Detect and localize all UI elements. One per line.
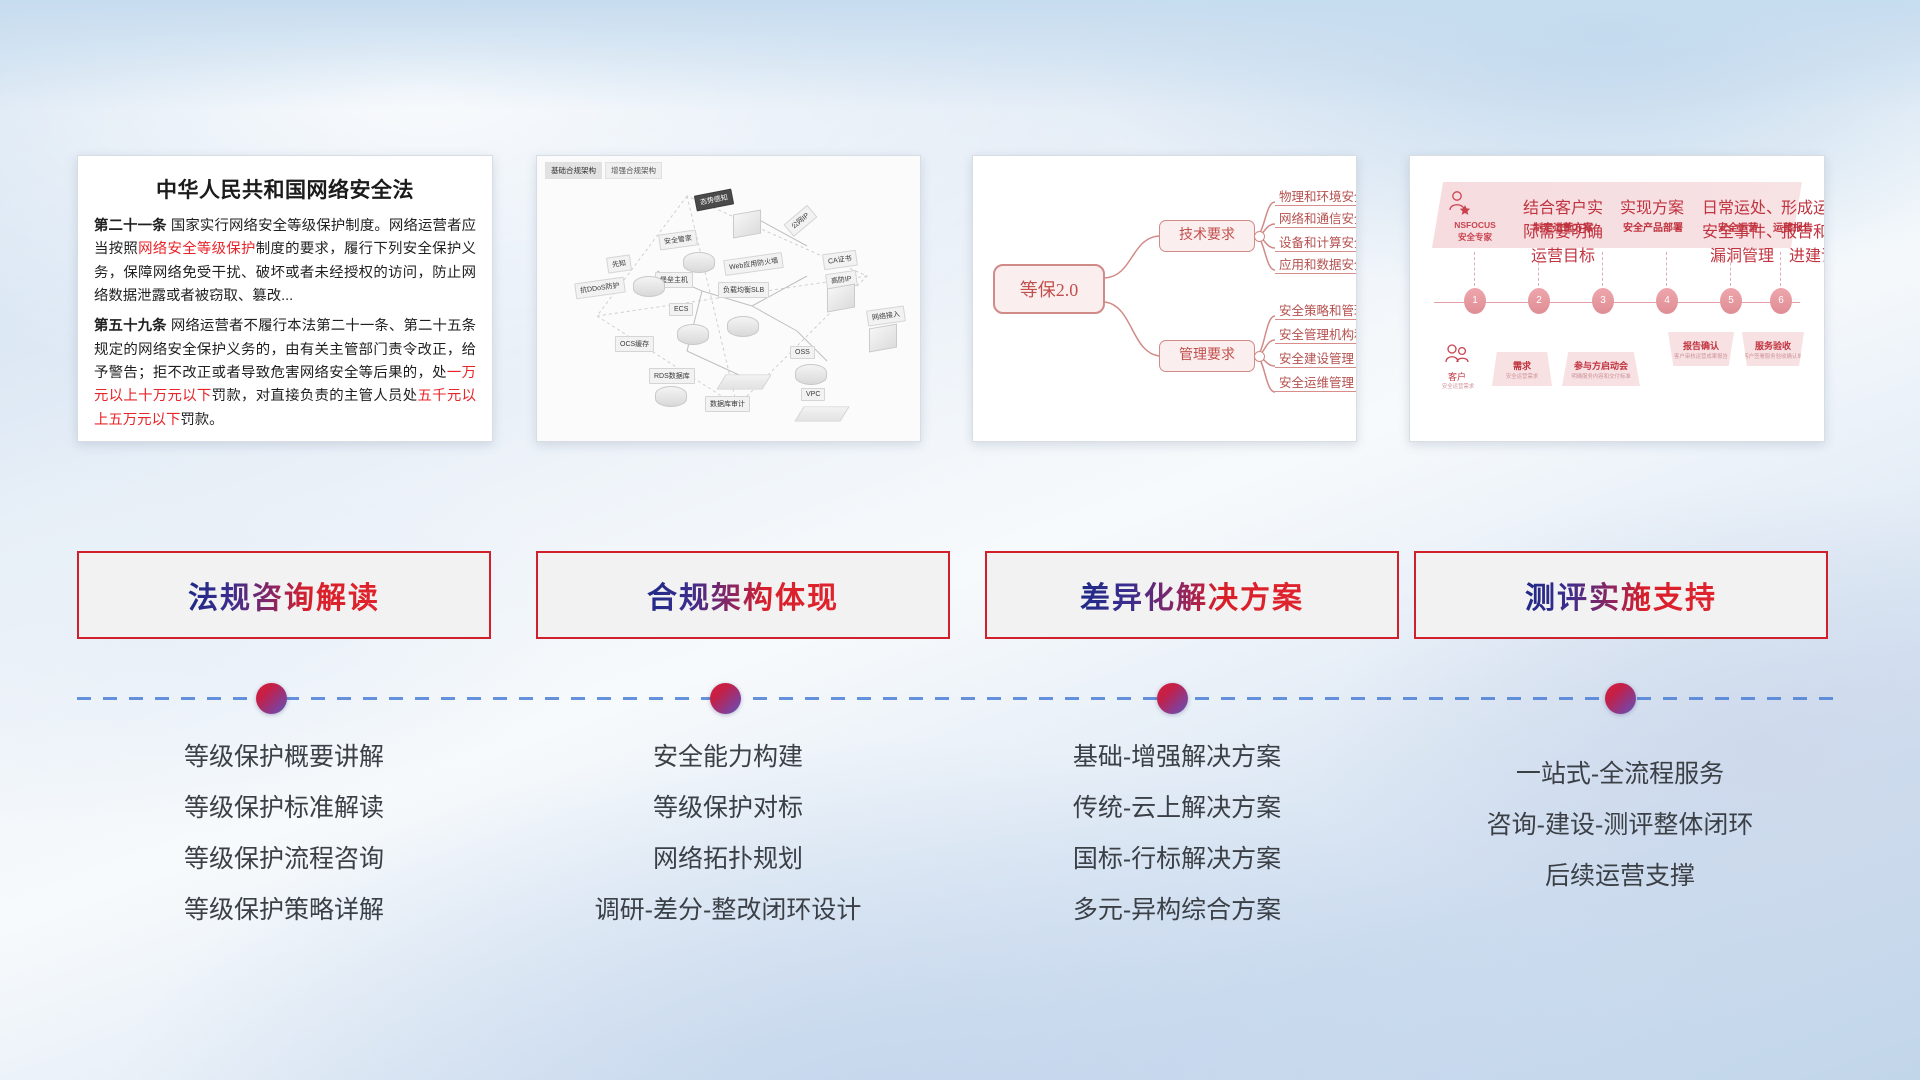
bottom-item-2: 参与方启动会 明确服务内容和交付标准: [1562, 352, 1640, 386]
law-article-59-text-c: 罚款。: [180, 412, 223, 428]
law-title: 中华人民共和国网络安全法: [94, 174, 476, 204]
list-item: 后续运营支撑: [1405, 864, 1835, 889]
timeline-connector-5: [1730, 252, 1731, 286]
arch-node-xianzhi: 先知: [606, 254, 632, 273]
bottom-item-4: 服务验收 客户签署服务验收确认单: [1742, 332, 1804, 366]
bottom-item-3: 报告确认 客户审核运营成果报告: [1668, 332, 1734, 366]
pillar-title-1[interactable]: 法规咨询解读: [77, 551, 491, 639]
arch-node-db-audit: 数据库审计: [705, 396, 750, 412]
mindmap-leaf-org-personnel: 安全管理机构和人员: [1275, 324, 1357, 344]
timeline-connector-4: [1666, 252, 1667, 286]
list-item: 咨询-建设-测评整体闭环: [1405, 813, 1835, 838]
card-mindmap-dengbao[interactable]: 等保2.0 技术要求 物理和环境安全 网络和通信安全 设备和计算安全 应用和数据…: [972, 155, 1357, 442]
list-item: 等级保护流程咨询: [69, 847, 499, 872]
law-article-59-text-b: 罚款，对直接负责的主管人员处: [212, 388, 418, 404]
bottom-item-1-sub: 安全运营需求: [1492, 372, 1552, 380]
timeline-node-4[interactable]: [1605, 683, 1636, 714]
list-item: 国标-行标解决方案: [962, 847, 1392, 872]
pillar-title-4-text: 测评实施支持: [1525, 573, 1717, 617]
list-item: 安全能力构建: [513, 745, 943, 770]
list-item: 调研-差分-整改闭环设计: [513, 898, 943, 923]
arch-node-oss: OSS: [790, 346, 815, 359]
customer-icon: [1444, 342, 1470, 370]
bottom-item-2-sub: 明确服务内容和交付标准: [1562, 372, 1640, 380]
arch-node-slb: 负载均衡SLB: [718, 282, 769, 298]
list-item: 传统-云上解决方案: [962, 796, 1392, 821]
timeline-connector-3: [1602, 252, 1603, 286]
mindmap-leaf-app-data: 应用和数据安全: [1275, 254, 1357, 274]
law-article-59: 第五十九条 网络运营者不履行本法第二十一条、第二十五条规定的网络安全保护义务的，…: [94, 315, 476, 432]
pillar-items-2: 安全能力构建 等级保护对标 网络拓扑规划 调研-差分-整改闭环设计: [513, 745, 943, 949]
timeline-connector-1: [1474, 252, 1475, 286]
mindmap-branch-management: 管理要求: [1159, 340, 1255, 372]
arch-shape-box-2: [827, 284, 855, 313]
arch-node-vpc: VPC: [801, 388, 825, 401]
list-item: 基础-增强解决方案: [962, 745, 1392, 770]
timeline-step-4: 4: [1656, 288, 1678, 314]
brand-name: NSFOCUS: [1444, 220, 1506, 231]
timeline-step-2: 2: [1528, 288, 1550, 314]
timeline-step-5: 5: [1720, 288, 1742, 314]
list-item: 网络拓扑规划: [513, 847, 943, 872]
mindmap-leaf-network-comm: 网络和通信安全: [1275, 208, 1357, 228]
list-item: 等级保护策略详解: [69, 898, 499, 923]
arch-shape-cylinder-6: [795, 364, 827, 385]
timeline-node-3[interactable]: [1157, 683, 1188, 714]
mindmap-branch-technical: 技术要求: [1159, 220, 1255, 252]
law-article-21-label: 第二十一条: [94, 218, 167, 234]
timeline-step-3: 3: [1592, 288, 1614, 314]
law-article-59-label: 第五十九条: [94, 318, 167, 334]
mindmap-leaf-physical-env: 物理和环境安全: [1275, 186, 1357, 206]
arch-shape-plate-1: [716, 375, 771, 390]
list-item: 等级保护概要讲解: [69, 745, 499, 770]
bottom-item-3-title: 报告确认: [1668, 339, 1734, 352]
pillar-items-3: 基础-增强解决方案 传统-云上解决方案 国标-行标解决方案 多元-异构综合方案: [962, 745, 1392, 949]
list-item: 一站式-全流程服务: [1405, 762, 1835, 787]
service-timeline-diagram: NSFOCUS 安全专家 结合客户实际需要明确运营目标 制定运营方案 实现方案 …: [1410, 156, 1824, 441]
bottom-item-4-sub: 客户签署服务验收确认单: [1742, 352, 1804, 360]
arch-shape-box-1: [733, 210, 761, 239]
bottom-item-4-title: 服务验收: [1742, 339, 1804, 352]
arch-shape-plate-2: [794, 407, 849, 422]
arch-shape-cylinder-4: [727, 316, 759, 337]
arch-shape-cylinder-5: [655, 386, 687, 407]
arch-shape-box-3: [869, 324, 897, 353]
timeline-axis: [1434, 302, 1800, 303]
card-service-timeline[interactable]: NSFOCUS 安全专家 结合客户实际需要明确运营目标 制定运营方案 实现方案 …: [1409, 155, 1825, 442]
mindmap-leaf-construction-mgmt: 安全建设管理: [1275, 348, 1357, 368]
mindmap-root-node: 等保2.0: [993, 264, 1105, 314]
phase-title-1: 制定运营方案: [1533, 223, 1593, 234]
timeline-connector-6: [1780, 252, 1781, 286]
card-cybersecurity-law[interactable]: 中华人民共和国网络安全法 第二十一条 国家实行网络安全等级保护制度。网络运营者应…: [77, 155, 493, 442]
pillar-title-4[interactable]: 测评实施支持: [1414, 551, 1828, 639]
bottom-item-1-title: 需求: [1492, 359, 1552, 372]
timeline-node-1[interactable]: [256, 683, 287, 714]
phase-title-2: 安全产品部署: [1623, 223, 1683, 234]
mindmap-leaf-device-compute: 设备和计算安全: [1275, 232, 1357, 252]
security-expert-icon: [1446, 190, 1472, 220]
phase-sub-2: 实现方案: [1616, 194, 1688, 218]
bottom-item-3-sub: 客户审核运营成果报告: [1668, 352, 1734, 360]
arch-node-rds: RDS数据库: [649, 368, 695, 384]
law-document: 中华人民共和国网络安全法 第二十一条 国家实行网络安全等级保护制度。网络运营者应…: [78, 156, 492, 441]
arch-shape-cylinder-2: [683, 252, 715, 273]
pillar-title-2[interactable]: 合规架构体现: [536, 551, 950, 639]
timeline-step-1: 1: [1464, 288, 1486, 314]
mindmap-leaf-policy-system: 安全策略和管理制度: [1275, 300, 1357, 320]
mindmap-collapse-dot-technical[interactable]: [1254, 231, 1265, 242]
list-item: 等级保护标准解读: [69, 796, 499, 821]
mindmap-collapse-dot-management[interactable]: [1254, 351, 1265, 362]
arch-node-ecs: ECS: [669, 303, 693, 316]
arch-node-ocs-cache: OCS缓存: [615, 336, 654, 352]
arch-shape-cylinder-1: [633, 276, 665, 297]
law-article-21-highlight: 网络安全等级保护: [138, 241, 256, 257]
phase-title-3: 安全运营: [1718, 223, 1758, 234]
timeline-dashed-line: [77, 697, 1843, 700]
bottom-item-1: 需求 安全运营需求: [1492, 352, 1552, 386]
pillar-title-3-text: 差异化解决方案: [1080, 573, 1304, 617]
mindmap-diagram: 等保2.0 技术要求 物理和环境安全 网络和通信安全 设备和计算安全 应用和数据…: [973, 156, 1356, 441]
pillar-items-1: 等级保护概要讲解 等级保护标准解读 等级保护流程咨询 等级保护策略详解: [69, 745, 499, 949]
card-compliance-architecture[interactable]: 基础合规架构 增强合规架构: [536, 155, 921, 442]
list-item: 等级保护对标: [513, 796, 943, 821]
timeline-step-6: 6: [1770, 288, 1792, 314]
architecture-diagram: 基础合规架构 增强合规架构: [537, 156, 920, 441]
customer-sublabel: 安全运营需求: [1430, 382, 1486, 390]
list-item: 多元-异构综合方案: [962, 898, 1392, 923]
bottom-item-2-title: 参与方启动会: [1562, 359, 1640, 372]
mindmap-leaf-ops-mgmt: 安全运维管理: [1275, 372, 1357, 392]
law-article-21: 第二十一条 国家实行网络安全等级保护制度。网络运营者应当按照网络安全等级保护制度…: [94, 215, 476, 308]
timeline-connector-2: [1538, 252, 1539, 286]
phase-title-4: 运营报告: [1773, 223, 1813, 234]
pillar-items-4: 一站式-全流程服务 咨询-建设-测评整体闭环 后续运营支撑: [1405, 762, 1835, 915]
pillar-title-1-text: 法规咨询解读: [188, 573, 380, 617]
pillar-title-3[interactable]: 差异化解决方案: [985, 551, 1399, 639]
arch-shape-cylinder-3: [677, 324, 709, 345]
pillar-title-2-text: 合规架构体现: [647, 573, 839, 617]
timeline-node-2[interactable]: [710, 683, 741, 714]
brand-subtitle: 安全专家: [1444, 232, 1506, 243]
